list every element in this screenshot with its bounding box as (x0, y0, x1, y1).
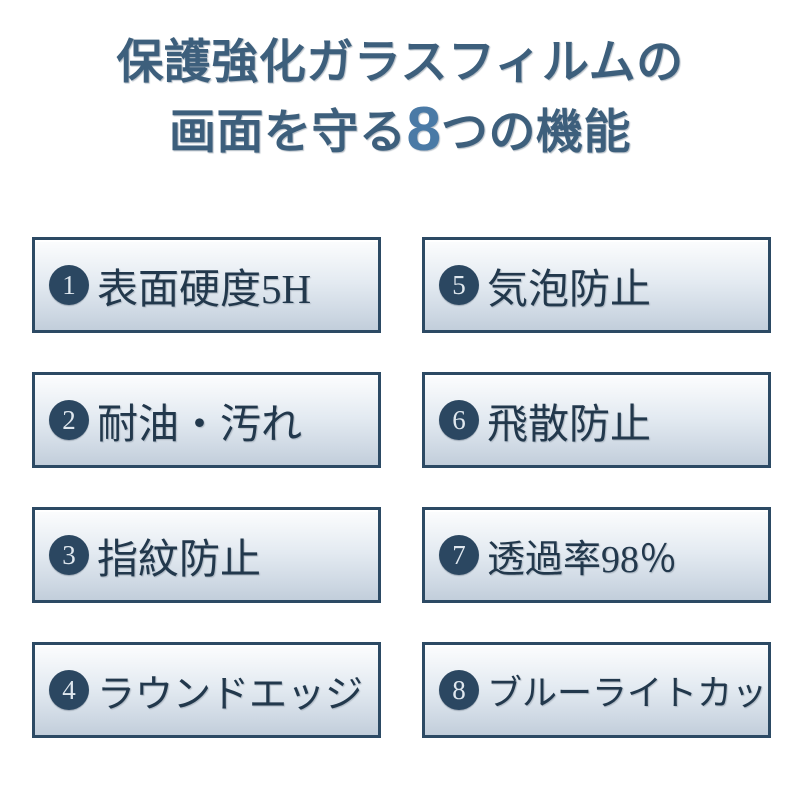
feature-number-badge-6: 6 (439, 400, 479, 440)
feature-label-4: ラウンドエッジ (97, 663, 378, 718)
feature-number-badge-1: 1 (49, 265, 89, 305)
feature-number-badge-4: 4 (49, 670, 89, 710)
headline-feature-count: 8 (407, 95, 441, 164)
feature-box-5: 5 気泡防止 (422, 237, 771, 333)
feature-box-6: 6 飛散防止 (422, 372, 771, 468)
feature-number-badge-7: 7 (439, 535, 479, 575)
headline-line-2: 画面を守る8つの機能 (0, 99, 800, 161)
feature-label-6: 飛散防止 (487, 390, 768, 450)
page-title: 保護強化ガラスフィルムの 画面を守る8つの機能 (0, 38, 800, 161)
feature-number-badge-2: 2 (49, 400, 89, 440)
feature-label-1: 表面硬度5H (97, 255, 378, 315)
feature-label-3: 指紋防止 (97, 525, 378, 585)
feature-label-2: 耐油・汚れ (97, 390, 378, 450)
infographic-poster: 保護強化ガラスフィルムの 画面を守る8つの機能 1 表面硬度5H 5 気泡防止 … (0, 0, 800, 800)
feature-box-8: 8 ブルーライトカット (422, 642, 771, 738)
feature-box-2: 2 耐油・汚れ (32, 372, 381, 468)
feature-label-5: 気泡防止 (487, 255, 768, 315)
feature-box-3: 3 指紋防止 (32, 507, 381, 603)
feature-box-4: 4 ラウンドエッジ (32, 642, 381, 738)
feature-number-badge-5: 5 (439, 265, 479, 305)
feature-grid: 1 表面硬度5H 5 気泡防止 2 耐油・汚れ 6 飛散防止 3 指紋防止 7 … (32, 237, 771, 737)
feature-number-badge-3: 3 (49, 535, 89, 575)
headline-line-1: 保護強化ガラスフィルムの (0, 38, 800, 85)
feature-box-7: 7 透過率98％ (422, 507, 771, 603)
headline-line-2-prefix: 画面を守る (169, 105, 407, 158)
feature-number-badge-8: 8 (439, 670, 479, 710)
feature-box-1: 1 表面硬度5H (32, 237, 381, 333)
feature-label-8: ブルーライトカット (487, 665, 771, 716)
feature-label-7: 透過率98％ (487, 528, 768, 583)
headline-line-2-suffix: つの機能 (441, 105, 631, 158)
